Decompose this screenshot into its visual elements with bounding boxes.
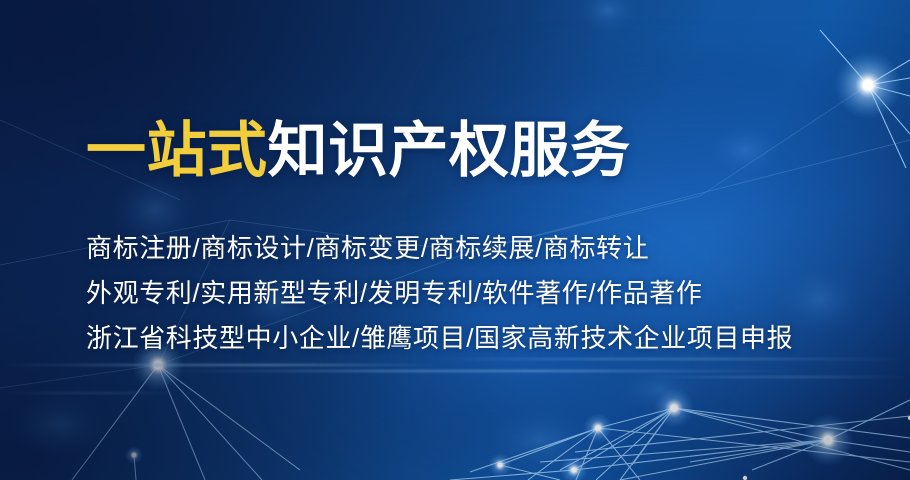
service-line-project-application: 浙江省科技型中小企业/雏鹰项目/国家高新技术企业项目申报 xyxy=(86,316,793,361)
page-title: 一站式知识产权服务 xyxy=(86,118,846,184)
service-line-trademark: 商标注册/商标设计/商标变更/商标续展/商标转让 xyxy=(86,226,793,271)
service-list: 商标注册/商标设计/商标变更/商标续展/商标转让 外观专利/实用新型专利/发明专… xyxy=(86,226,793,361)
promo-banner: 一站式知识产权服务 商标注册/商标设计/商标变更/商标续展/商标转让 外观专利/… xyxy=(0,0,910,480)
headline-accent: 一站式 xyxy=(86,117,268,184)
headline-main: 知识产权服务 xyxy=(268,117,631,184)
banner-text-block: 一站式知识产权服务 商标注册/商标设计/商标变更/商标续展/商标转让 外观专利/… xyxy=(86,118,846,184)
service-line-patent: 外观专利/实用新型专利/发明专利/软件著作/作品著作 xyxy=(86,271,793,316)
